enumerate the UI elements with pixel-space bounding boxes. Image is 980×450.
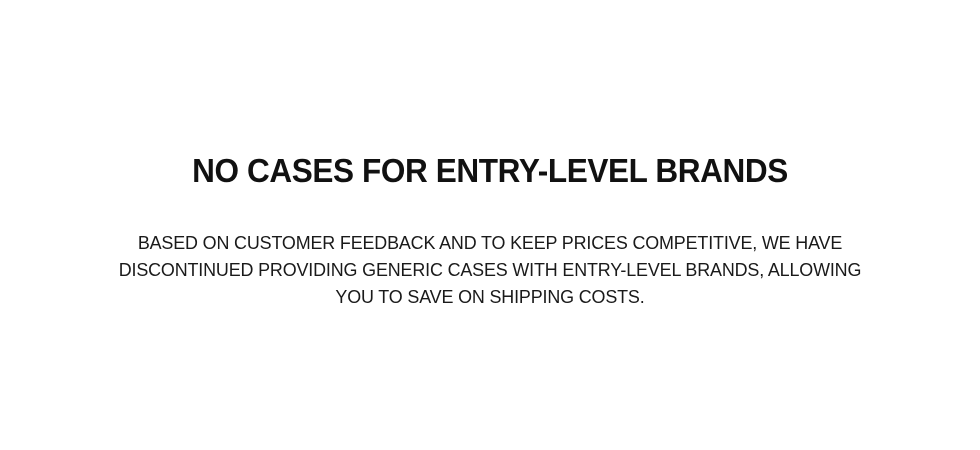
- banner-content: NO CASES FOR ENTRY-LEVEL BRANDS BASED ON…: [40, 0, 940, 311]
- description-line-1: BASED ON CUSTOMER FEEDBACK AND TO KEEP P…: [96, 230, 884, 257]
- page-title: NO CASES FOR ENTRY-LEVEL BRANDS: [60, 0, 920, 190]
- description-line-2: DISCONTINUED PROVIDING GENERIC CASES WIT…: [96, 257, 884, 284]
- info-banner: NO CASES FOR ENTRY-LEVEL BRANDS BASED ON…: [0, 0, 980, 450]
- description-line-3: YOU TO SAVE ON SHIPPING COSTS.: [96, 284, 884, 311]
- banner-description: BASED ON CUSTOMER FEEDBACK AND TO KEEP P…: [96, 190, 884, 311]
